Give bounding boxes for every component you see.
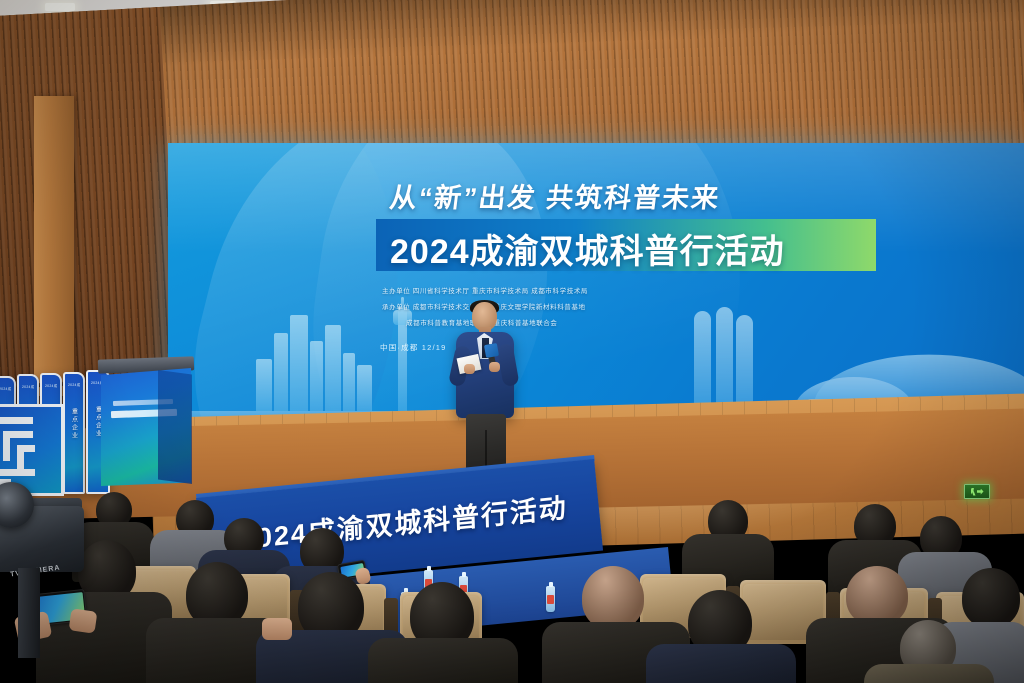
led-display-screen: 从“新”出发 共筑科普未来 2024成渝双城科普行活动 主办单位 四川省科学技术… <box>168 143 1024 433</box>
building <box>256 359 272 411</box>
conference-hall-scene: 从“新”出发 共筑科普未来 2024成渝双城科普行活动 主办单位 四川省科学技术… <box>0 0 1024 683</box>
building <box>290 315 308 411</box>
building <box>343 353 355 411</box>
microphone-flag <box>484 343 499 358</box>
screen-main-title: 2024成渝双城科普行活动 <box>390 224 785 273</box>
screen-org-line-1: 主办单位 四川省科学技术厅 重庆市科学技术局 成都市科学技术局 <box>382 285 588 295</box>
panel-header: 2024成渝双城科普行活动 <box>68 383 80 388</box>
screen-date-line: 中国·成都 12/19 <box>380 342 447 353</box>
audience-body <box>368 638 518 683</box>
maze-bar <box>17 445 24 469</box>
wall-pillar <box>34 96 74 396</box>
audience-hand <box>262 618 292 640</box>
audience-body <box>864 664 994 683</box>
screen-title-band: 2024成渝双城科普行活动 <box>376 219 876 271</box>
building <box>274 333 288 411</box>
speaker-right-hand <box>489 362 500 372</box>
twin-tower-a <box>694 311 711 411</box>
building <box>357 365 372 411</box>
skyline-right <box>686 291 1006 411</box>
twin-tower-c <box>736 315 753 411</box>
building <box>325 325 341 411</box>
camera-tripod-post <box>18 568 40 658</box>
panel-header: 2024成渝双城科普行活动 <box>45 384 57 389</box>
speaker-left-hand <box>464 364 475 374</box>
screen-headline: 从“新”出发 共筑科普未来 <box>388 176 773 215</box>
audience-head <box>962 568 1020 628</box>
audience-area <box>0 470 1024 683</box>
tv-camera-rig: TV-CAMERA <box>0 480 108 660</box>
panel-header: 2024成渝双城科普行活动 <box>22 385 34 390</box>
twin-tower-b <box>716 307 733 411</box>
audience-head <box>846 566 908 626</box>
building <box>310 341 323 411</box>
panel-header: 2024成渝双城科普行活动 <box>0 387 11 392</box>
maze-bar <box>3 431 10 461</box>
audience-body <box>646 644 796 683</box>
panel-vertical-text: 重点企业 <box>70 408 79 440</box>
audience-head <box>582 566 644 630</box>
podium-side-panel <box>158 370 192 484</box>
maze-bar <box>0 417 33 424</box>
